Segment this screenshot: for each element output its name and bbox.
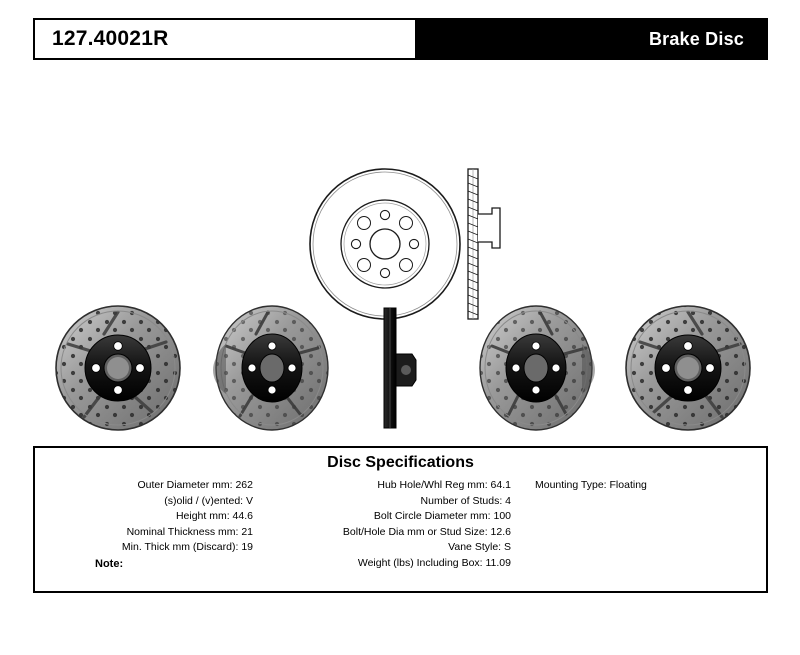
rotor-cross-section-view <box>468 169 500 319</box>
spec-hub-hole: Hub Hole/Whl Reg mm: 64.1 <box>271 478 511 494</box>
header-bar: 127.40021R Brake Disc <box>33 18 768 60</box>
disc-specifications-panel: Disc Specifications Outer Diameter mm: 2… <box>33 446 768 593</box>
brake-disc-spec-sheet: 127.40021R Brake Disc <box>0 0 800 655</box>
spec-solid-vented: (s)olid / (v)ented: V <box>53 494 253 510</box>
spec-vane-style: Vane Style: S <box>271 540 511 556</box>
spec-nominal-thickness: Nominal Thickness mm: 21 <box>53 525 253 541</box>
spec-weight: Weight (lbs) Including Box: 11.09 <box>271 556 511 572</box>
drilled-slotted-rotor-front-right <box>626 306 750 430</box>
spec-number-of-studs: Number of Studs: 4 <box>271 494 511 510</box>
rotor-illustrations <box>0 62 800 442</box>
rotor-edge-profile-center <box>384 308 416 428</box>
spec-min-thickness: Min. Thick mm (Discard): 19 <box>53 540 253 556</box>
rotor-face-outline-view <box>310 169 460 319</box>
specs-column-dimensions: Outer Diameter mm: 262 (s)olid / (v)ente… <box>53 478 253 556</box>
spec-bolt-circle-diameter: Bolt Circle Diameter mm: 100 <box>271 509 511 525</box>
spec-mounting-type: Mounting Type: Floating <box>535 478 765 494</box>
drilled-rotor-angled-right <box>480 306 595 430</box>
specs-column-type: Mounting Type: Floating <box>535 478 765 494</box>
slotted-rotor-angled-left <box>213 306 328 430</box>
page-title: Brake Disc <box>649 29 744 50</box>
drilled-slotted-rotor-front-left <box>56 306 180 430</box>
spec-bolt-hole-dia: Bolt/Hole Dia mm or Stud Size: 12.6 <box>271 525 511 541</box>
specs-title: Disc Specifications <box>35 454 766 472</box>
spec-height: Height mm: 44.6 <box>53 509 253 525</box>
drawing-area <box>0 62 800 442</box>
note-label: Note: <box>95 558 123 570</box>
header-right-section: Brake Disc <box>415 20 766 58</box>
spec-outer-diameter: Outer Diameter mm: 262 <box>53 478 253 494</box>
specs-column-mounting: Hub Hole/Whl Reg mm: 64.1 Number of Stud… <box>271 478 511 571</box>
header-left-section: 127.40021R <box>35 20 415 58</box>
part-number: 127.40021R <box>52 27 168 51</box>
